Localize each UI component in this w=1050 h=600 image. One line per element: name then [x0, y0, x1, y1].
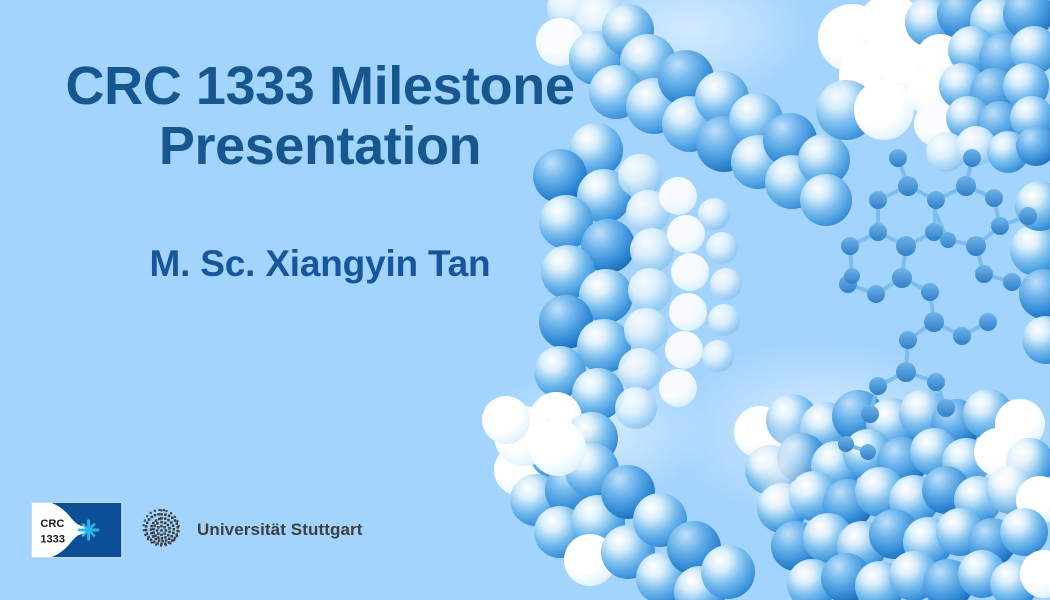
logo-bar: CRC 1333: [31, 502, 363, 558]
dot-circle-icon: [137, 506, 186, 555]
presentation-slide: CRC 1333 Milestone Presentation M. Sc. X…: [0, 0, 1050, 600]
crc-logo-line-2: 1333: [40, 534, 65, 546]
crc-logo-line-1: CRC: [40, 518, 64, 530]
crc-1333-logo: CRC 1333: [31, 502, 123, 558]
presenter-name: M. Sc. Xiangyin Tan: [0, 177, 640, 285]
title-text-block: CRC 1333 Milestone Presentation M. Sc. X…: [0, 56, 640, 285]
university-stuttgart-logo: Universität Stuttgart: [137, 506, 363, 555]
title-line-2: Presentation: [8, 116, 632, 176]
title-line-1: CRC 1333 Milestone: [8, 56, 632, 116]
university-wordmark: Universität Stuttgart: [197, 520, 363, 540]
page-title: CRC 1333 Milestone Presentation: [0, 56, 640, 177]
